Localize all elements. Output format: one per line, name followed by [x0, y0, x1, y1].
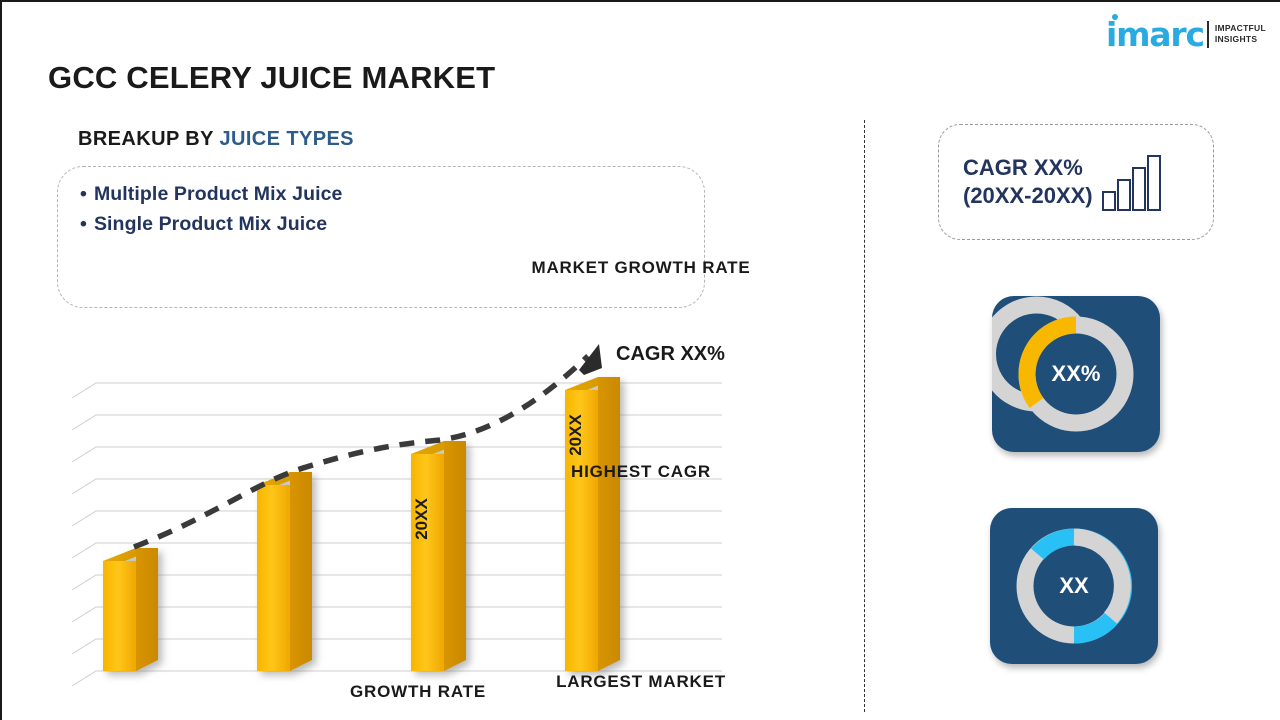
- largest-market-caption: LARGEST MARKET: [2, 672, 1280, 692]
- largest-market-card: XX: [990, 508, 1158, 664]
- slide-canvas: imarc IMPACTFUL INSIGHTS GCC CELERY JUIC…: [0, 0, 1280, 720]
- bar-1: [103, 548, 158, 671]
- chart-cagr-annotation: CAGR XX%: [616, 343, 725, 366]
- cagr-card-text: CAGR XX% (20XX-20XX): [963, 154, 1093, 210]
- page-title: GCC CELERY JUICE MARKET: [48, 60, 495, 96]
- trend-arrowhead-icon: [579, 344, 602, 375]
- trend-line: [134, 344, 602, 547]
- highest-cagr-donut: [992, 296, 1160, 452]
- logo-tagline: IMPACTFUL INSIGHTS: [1215, 23, 1266, 45]
- section-subtitle: BREAKUP BY JUICE TYPES: [78, 128, 354, 151]
- chart-svg: 20XX 20XX: [48, 332, 768, 702]
- logo-dot-icon: [1112, 14, 1118, 20]
- bar-label-3: 20XX: [412, 498, 431, 540]
- logo-wordmark: imarc: [1106, 18, 1204, 51]
- highest-cagr-caption: HIGHEST CAGR: [2, 462, 1280, 482]
- list-item: Single Product Mix Juice: [80, 209, 704, 239]
- bar-4: 20XX: [565, 377, 620, 671]
- breakup-list-box: Multiple Product Mix Juice Single Produc…: [57, 166, 705, 308]
- logo-wordmark-text: imarc: [1106, 15, 1204, 54]
- logo-divider: [1207, 21, 1209, 48]
- market-growth-rate-caption: MARKET GROWTH RATE: [2, 258, 1280, 278]
- logo-tagline-line2: INSIGHTS: [1215, 34, 1266, 45]
- imarc-logo: imarc IMPACTFUL INSIGHTS: [1106, 14, 1266, 54]
- highest-cagr-card: XX%: [992, 296, 1160, 452]
- cagr-card: CAGR XX% (20XX-20XX): [938, 124, 1214, 240]
- bar-label-4: 20XX: [566, 414, 585, 456]
- breakup-list: Multiple Product Mix Juice Single Produc…: [58, 167, 704, 239]
- bar-2: [257, 472, 312, 671]
- growth-bar-chart: 20XX 20XX: [48, 332, 768, 702]
- vertical-divider: [864, 120, 865, 712]
- logo-tagline-line1: IMPACTFUL: [1215, 23, 1266, 34]
- list-item: Multiple Product Mix Juice: [80, 179, 704, 209]
- bar-chart-icon: [1101, 152, 1163, 212]
- subtitle-highlight: JUICE TYPES: [219, 128, 353, 150]
- subtitle-prefix: BREAKUP BY: [78, 128, 219, 150]
- largest-market-donut: [990, 508, 1158, 664]
